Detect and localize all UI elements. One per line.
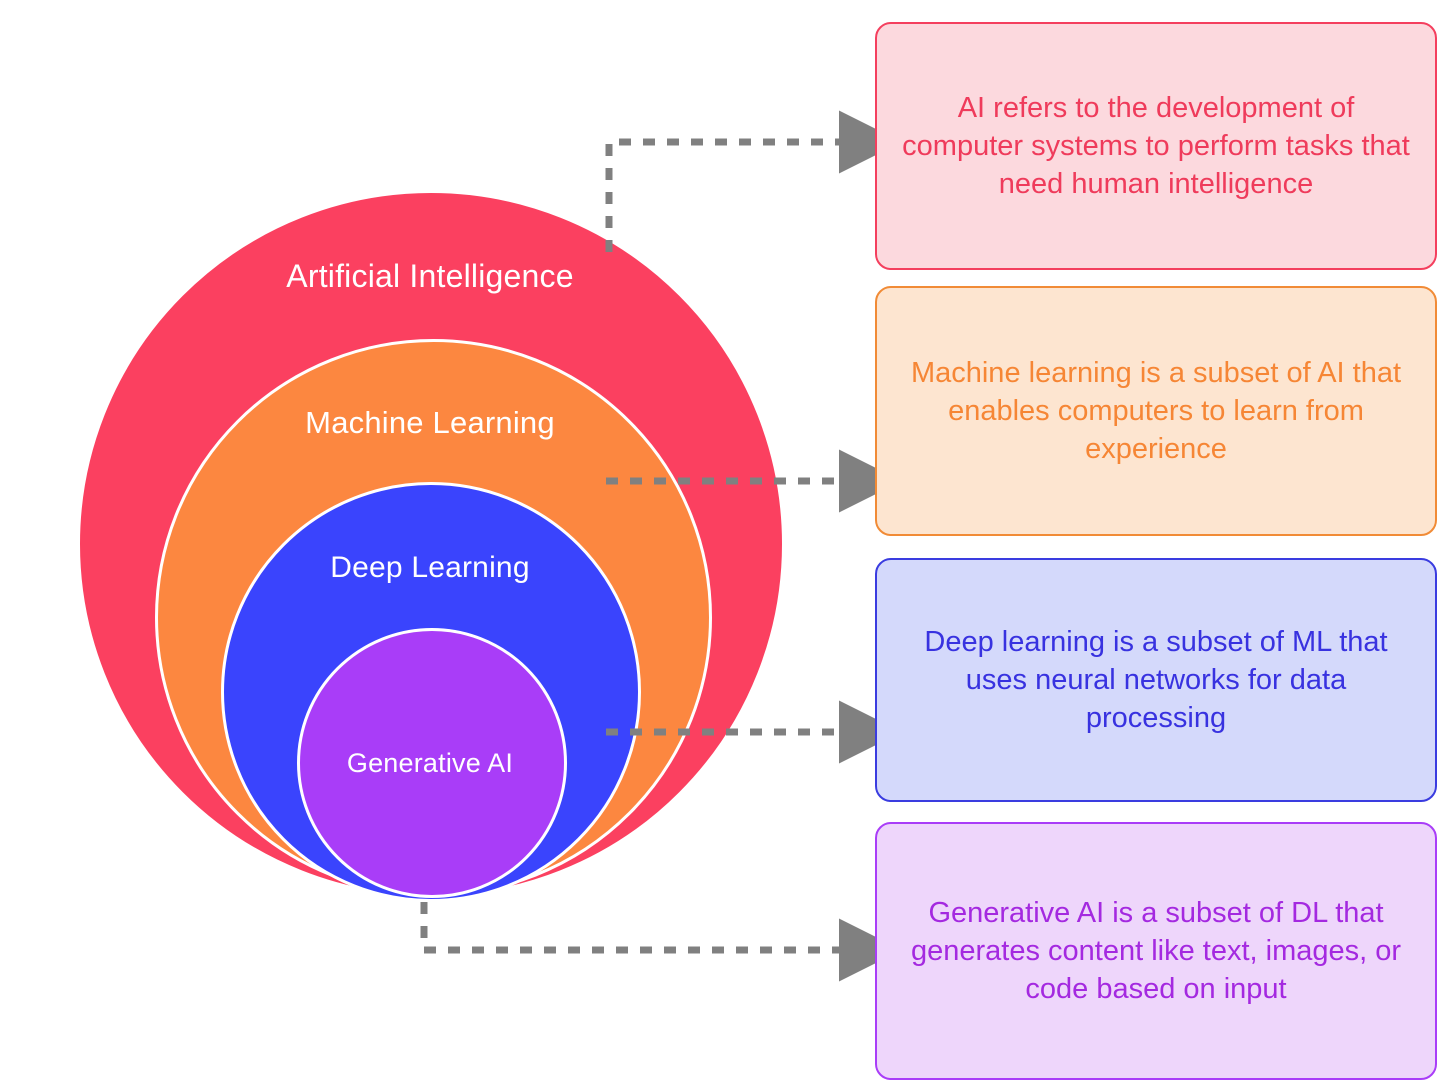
diagram-canvas: Artificial Intelligence Machine Learning… <box>0 0 1456 1092</box>
circle-label-artificial-intelligence: Artificial Intelligence <box>0 258 860 295</box>
circle-label-machine-learning: Machine Learning <box>0 405 860 441</box>
venn-diagram: Artificial Intelligence Machine Learning… <box>0 0 860 1092</box>
description-card-deep-learning[interactable]: Deep learning is a subset of ML that use… <box>875 558 1437 802</box>
description-text-artificial-intelligence: AI refers to the development of computer… <box>899 89 1413 204</box>
description-text-machine-learning: Machine learning is a subset of AI that … <box>899 354 1413 469</box>
description-card-machine-learning[interactable]: Machine learning is a subset of AI that … <box>875 286 1437 536</box>
circle-label-deep-learning: Deep Learning <box>0 551 860 585</box>
description-text-generative-ai: Generative AI is a subset of DL that gen… <box>899 894 1413 1009</box>
circle-label-generative-ai: Generative AI <box>0 748 860 779</box>
description-card-artificial-intelligence[interactable]: AI refers to the development of computer… <box>875 22 1437 270</box>
description-card-generative-ai[interactable]: Generative AI is a subset of DL that gen… <box>875 822 1437 1080</box>
description-text-deep-learning: Deep learning is a subset of ML that use… <box>899 623 1413 738</box>
